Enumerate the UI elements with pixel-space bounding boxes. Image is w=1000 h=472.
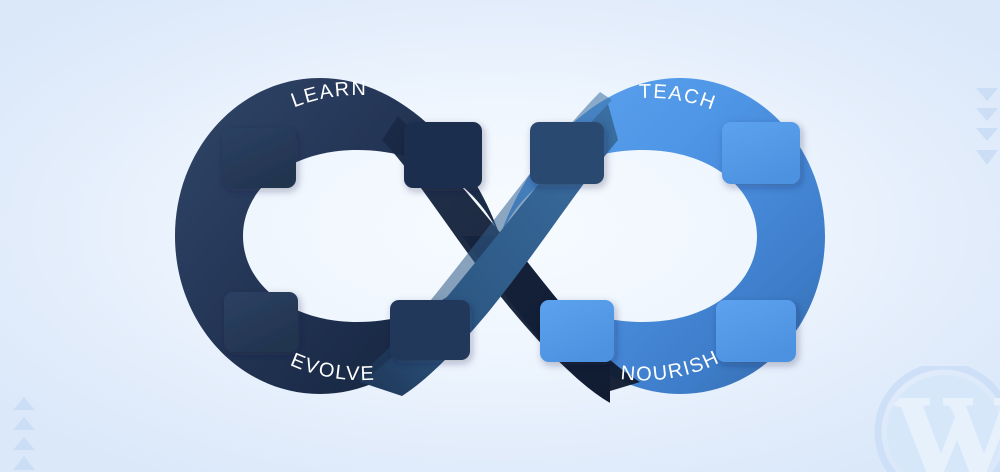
chevron-up-icon xyxy=(13,437,35,450)
decorative-markers xyxy=(0,0,1000,472)
chevron-down-icon xyxy=(976,108,998,121)
chevron-up-markers xyxy=(13,397,35,470)
infinity-loop-graphic: LEARN TEACH EVOLVE NOURISH xyxy=(0,0,1000,472)
chevron-up-icon xyxy=(13,456,35,470)
chevron-down-icon xyxy=(976,88,998,101)
chevron-up-icon xyxy=(13,397,35,410)
chevron-down-icon xyxy=(976,128,998,141)
chevron-down-icon xyxy=(976,150,998,165)
chevron-up-icon xyxy=(13,417,35,430)
chevron-down-markers xyxy=(976,88,998,165)
